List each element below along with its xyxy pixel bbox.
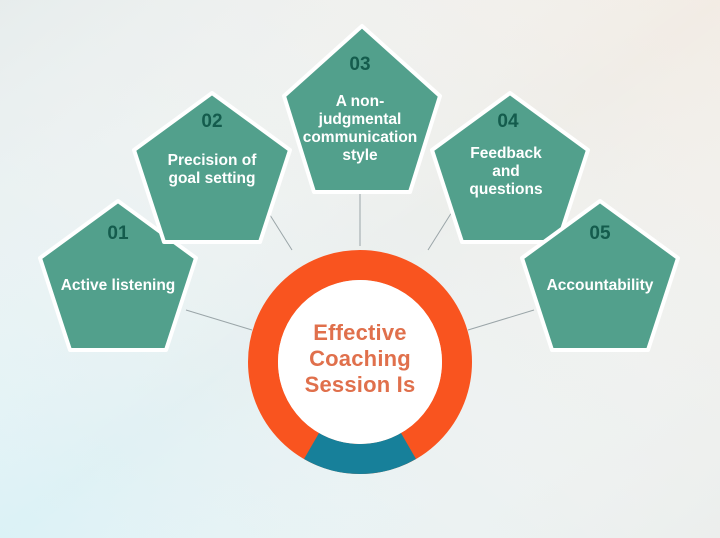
node-04-label-line-2: and — [492, 163, 520, 180]
node-04-label-line-1: Feedback — [470, 145, 542, 162]
node-03-label-line-3: communication — [303, 129, 418, 146]
donut-ring-secondary — [312, 446, 409, 459]
node-03-number: 03 — [349, 54, 370, 75]
node-02[interactable]: 02 Precision of goal setting — [134, 93, 290, 242]
diagram-canvas: 01 Active listening 02 Precision of goal… — [0, 0, 720, 538]
center-label-line-3: Session Is — [305, 372, 416, 397]
node-03[interactable]: 03 A non- judgmental communication style — [284, 26, 440, 192]
center-donut[interactable]: Effective Coaching Session Is — [263, 265, 457, 459]
node-05-number: 05 — [589, 223, 611, 244]
node-03-label-line-1: A non- — [336, 93, 385, 110]
node-02-number: 02 — [201, 111, 222, 132]
node-04[interactable]: 04 Feedback and questions — [432, 93, 588, 242]
node-01-label-line-1: Active listening — [61, 277, 176, 294]
connector-line-01 — [186, 310, 252, 330]
center-label-line-2: Coaching — [309, 346, 411, 371]
node-05-label-line-1: Accountability — [547, 277, 654, 294]
node-03-label-line-2: judgmental — [318, 111, 402, 128]
node-03-label-line-4: style — [342, 147, 378, 164]
node-01-number: 01 — [107, 223, 129, 244]
node-04-number: 04 — [497, 111, 519, 132]
node-02-label-line-2: goal setting — [169, 170, 256, 187]
node-02-label-line-1: Precision of — [168, 152, 258, 169]
center-label-line-1: Effective — [313, 320, 407, 345]
connector-line-05 — [468, 310, 534, 330]
node-04-label-line-3: questions — [469, 181, 542, 198]
pentagon-wheel: 01 Active listening 02 Precision of goal… — [0, 0, 720, 538]
